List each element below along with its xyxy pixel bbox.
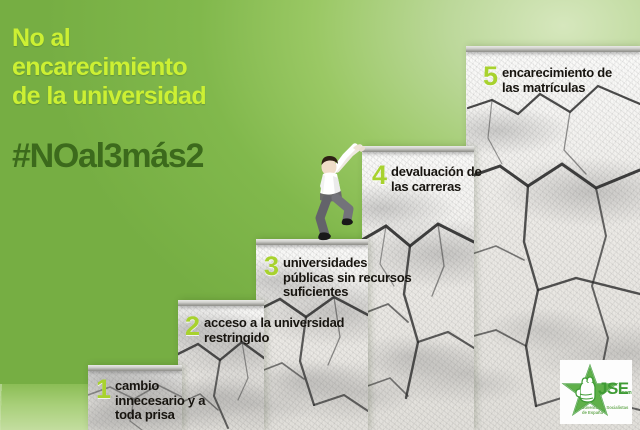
step-number-4: 4 <box>372 163 386 188</box>
step-2-line-1: acceso a la universidad <box>204 315 344 330</box>
poster-canvas: No al encarecimiento de la universidad #… <box>0 0 640 430</box>
step-number-1: 1 <box>96 377 110 402</box>
step-nosing <box>178 300 264 306</box>
step-3-line-2: públicas sin recursos <box>283 270 411 285</box>
headline-line-2: encarecimiento <box>12 53 312 82</box>
step-text-3: universidades públicas sin recursos sufi… <box>283 254 411 300</box>
step-2-line-2: restringido <box>204 330 269 345</box>
step-3-line-1: universidades <box>283 255 367 270</box>
page-title: No al encarecimiento de la universidad <box>12 24 312 111</box>
step-1-line-2: innecesario y a <box>115 393 205 408</box>
stair-label-1: 1 cambio innecesario y a toda prisa <box>96 377 256 423</box>
step-4-line-1: devaluación de <box>391 164 481 179</box>
step-3-line-3: suficientes <box>283 284 348 299</box>
step-1-line-3: toda prisa <box>115 407 175 422</box>
step-number-2: 2 <box>185 314 199 339</box>
step-4-line-2: las carreras <box>391 179 461 194</box>
step-number-5: 5 <box>483 64 497 89</box>
step-nosing <box>362 146 474 152</box>
step-text-5: encarecimiento de las matrículas <box>502 64 612 95</box>
stair-label-3: 3 universidades públicas sin recursos su… <box>264 254 414 300</box>
step-number-3: 3 <box>264 254 278 279</box>
headline-line-3: de la universidad <box>12 82 312 111</box>
stair-label-5: 5 encarecimiento de las matrículas <box>483 64 633 95</box>
step-nosing <box>88 365 182 371</box>
stair-label-2: 2 acceso a la universidad restringido <box>185 314 355 345</box>
step-text-1: cambio innecesario y a toda prisa <box>115 377 205 423</box>
step-1-line-1: cambio <box>115 378 159 393</box>
climbing-student-figure <box>303 140 365 245</box>
step-5-line-1: encarecimiento de <box>502 65 612 80</box>
logo-domain: .com <box>620 391 632 396</box>
step-text-2: acceso a la universidad restringido <box>204 314 344 345</box>
logo-subtitle: Juventudes Socialistas de España <box>582 405 632 415</box>
step-text-4: devaluación de las carreras <box>391 163 481 194</box>
step-5-line-2: las matrículas <box>502 80 585 95</box>
jse-logo[interactable]: JSE .com Juventudes Socialistas de Españ… <box>560 360 632 424</box>
headline-line-1: No al <box>12 24 312 53</box>
step-nosing <box>466 46 640 52</box>
stair-label-4: 4 devaluación de las carreras <box>372 163 512 194</box>
campaign-hashtag: #NOal3más2 <box>12 137 203 175</box>
